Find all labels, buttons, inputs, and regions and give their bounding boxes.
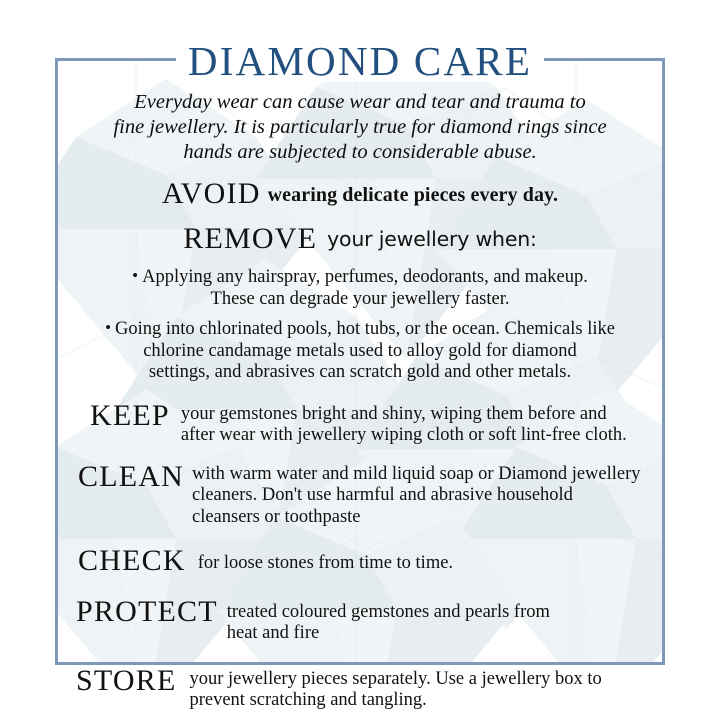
keep-keyword: KEEP (90, 399, 170, 432)
clean-line: with warm water and mild liquid soap or … (192, 464, 648, 486)
remove-keyword: REMOVE (183, 222, 317, 255)
section-store: STORE your jewellery pieces separately. … (72, 665, 648, 712)
title-container: DIAMOND CARE (0, 41, 720, 82)
remove-bullet-list: •Applying any hairspray, perfumes, deodo… (72, 265, 648, 384)
check-line: for loose stones from time to time. (198, 553, 648, 575)
protect-keyword: PROTECT (76, 595, 218, 628)
section-protect: PROTECT treated coloured gemstones and p… (72, 596, 648, 645)
section-clean: CLEAN with warm water and mild liquid so… (72, 461, 648, 529)
bullet-line: settings, and abrasives can scratch gold… (72, 362, 648, 384)
check-text: for loose stones from time to time. (186, 545, 648, 575)
bullet-line: Applying any hairspray, perfumes, deodor… (142, 267, 588, 287)
keep-line: after wear with jewellery wiping cloth o… (181, 425, 648, 447)
bullet-line: These can degrade your jewellery faster. (72, 289, 648, 311)
store-text: your jewellery pieces separately. Use a … (176, 665, 648, 712)
clean-line: cleaners. Don't use harmful and abrasive… (192, 485, 648, 507)
protect-text: treated coloured gemstones and pearls fr… (218, 596, 648, 645)
bullet-line: Going into chlorinated pools, hot tubs, … (115, 319, 615, 339)
protect-keyword-cell: PROTECT (76, 596, 218, 628)
check-keyword: CHECK (78, 544, 186, 577)
keep-line: your gemstones bright and shiny, wiping … (181, 404, 648, 426)
page-title: DIAMOND CARE (176, 41, 544, 82)
check-keyword-cell: CHECK (78, 545, 186, 577)
intro-line-1: Everyday wear can cause wear and tear an… (86, 90, 634, 115)
remove-text: your jewellery when: (327, 227, 537, 251)
care-instructions-body: Everyday wear can cause wear and tear an… (58, 58, 662, 665)
avoid-keyword: AVOID (162, 177, 261, 210)
protect-line: heat and fire (227, 623, 648, 645)
store-line: your jewellery pieces separately. Use a … (189, 669, 648, 691)
avoid-text: wearing delicate pieces every day. (268, 184, 559, 206)
list-item: •Applying any hairspray, perfumes, deodo… (72, 265, 648, 310)
clean-text: with warm water and mild liquid soap or … (184, 461, 648, 529)
store-keyword: STORE (76, 664, 176, 697)
keep-text: your gemstones bright and shiny, wiping … (170, 400, 648, 447)
bullet-line: chlorine candamage metals used to alloy … (72, 341, 648, 363)
section-check: CHECK for loose stones from time to time… (72, 545, 648, 577)
clean-keyword: CLEAN (78, 460, 184, 493)
list-item: •Going into chlorinated pools, hot tubs,… (72, 317, 648, 384)
section-remove: REMOVEyour jewellery when: (72, 222, 648, 256)
protect-line: treated coloured gemstones and pearls fr… (227, 602, 648, 624)
intro-line-3: hands are subjected to considerable abus… (86, 140, 634, 165)
store-keyword-cell: STORE (76, 665, 176, 697)
section-keep: KEEP your gemstones bright and shiny, wi… (72, 400, 648, 447)
keep-keyword-cell: KEEP (90, 400, 170, 432)
clean-line: cleansers or toothpaste (192, 507, 648, 529)
bullet-icon: • (132, 266, 138, 285)
section-avoid: AVOIDwearing delicate pieces every day. (72, 177, 648, 211)
clean-keyword-cell: CLEAN (78, 461, 184, 493)
intro-paragraph: Everyday wear can cause wear and tear an… (86, 90, 634, 165)
intro-line-2: fine jewellery. It is particularly true … (86, 115, 634, 140)
bullet-icon: • (105, 318, 111, 337)
store-line: prevent scratching and tangling. (189, 690, 648, 712)
